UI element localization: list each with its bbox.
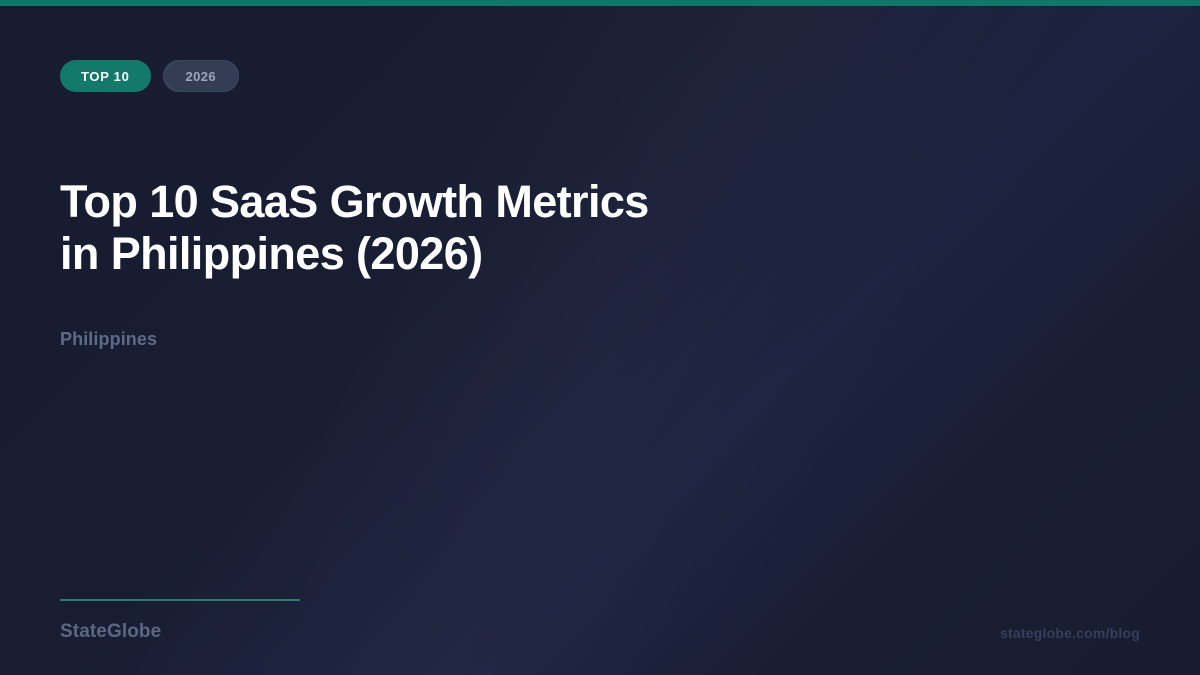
footer-divider <box>60 599 300 601</box>
page-title-line-2: in Philippines (2026) <box>60 228 760 280</box>
badge-year[interactable]: 2026 <box>163 60 240 92</box>
footer-brand-name: StateGlobe <box>60 621 161 643</box>
page-title: Top 10 SaaS Growth Metrics in Philippine… <box>60 176 760 280</box>
title-slide: TOP 10 2026 Top 10 SaaS Growth Metrics i… <box>0 0 1200 675</box>
page-title-line-1: Top 10 SaaS Growth Metrics <box>60 176 760 228</box>
slide-content: TOP 10 2026 Top 10 SaaS Growth Metrics i… <box>0 0 1200 675</box>
badge-top-10[interactable]: TOP 10 <box>60 60 151 92</box>
footer-url: stateglobe.com/blog <box>1000 625 1140 641</box>
top-accent-bar <box>0 0 1200 6</box>
badge-group: TOP 10 2026 <box>60 60 239 92</box>
page-subtitle: Philippines <box>60 329 157 350</box>
